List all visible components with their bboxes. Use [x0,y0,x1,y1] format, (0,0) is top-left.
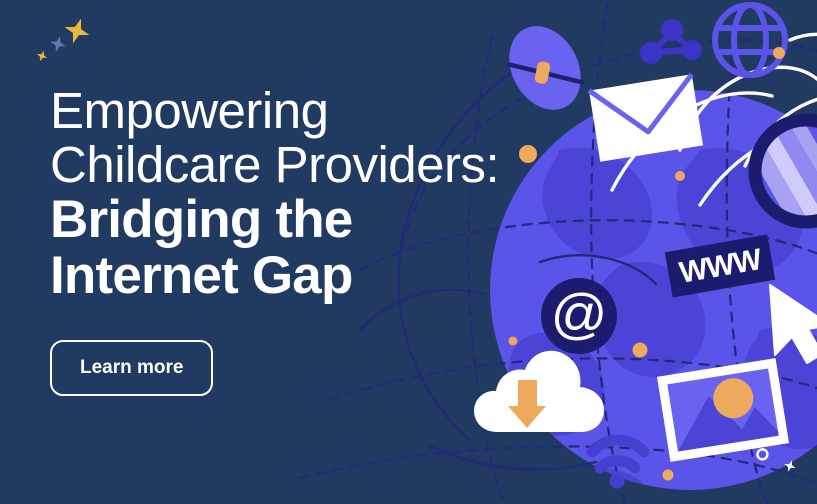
headline-line-3: Bridging the [50,192,590,248]
sparkle-small-yellow [35,49,49,63]
sparkle-small-white [782,458,797,473]
www-label: WWW [677,243,765,290]
headline-line-1: Empowering [50,84,590,138]
wifi-icon [592,440,644,489]
magnifier-pencil [731,89,817,268]
headline-line-2: Childcare Providers: [50,138,590,192]
cursor-arrow [770,285,817,363]
sparkle-medium-blue [48,34,68,54]
share-network-icon [640,19,702,64]
page-title: Empowering Childcare Providers: Bridging… [50,84,590,304]
sparkle-large-yellow [61,15,94,48]
cta-container: Learn more [50,340,590,396]
white-signal-curves [612,34,817,205]
learn-more-button[interactable]: Learn more [50,340,213,396]
hero-banner: WWW @ [0,0,817,504]
hero-content: Empowering Childcare Providers: Bridging… [50,84,590,396]
headline-line-4: Internet Gap [50,248,590,304]
envelope-icon [589,74,703,161]
www-tag: WWW [665,234,775,297]
globe-icon [715,5,785,75]
photo-frame [657,358,791,474]
